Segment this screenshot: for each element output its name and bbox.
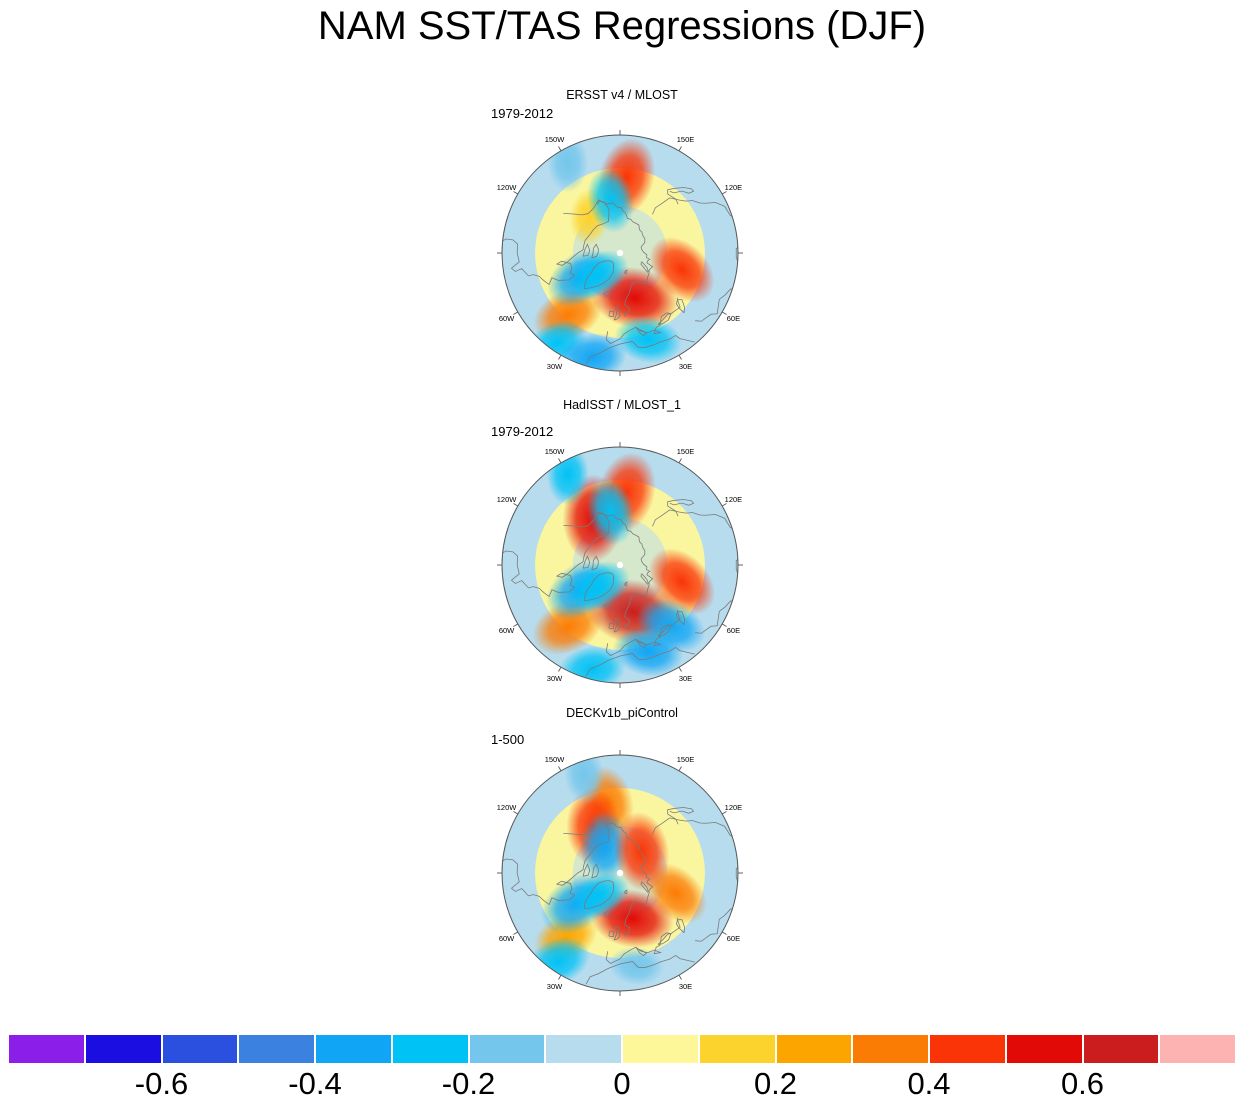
colorbar-swatch-2 bbox=[162, 1034, 239, 1064]
map-svg: 180150W120W90W60W30W030E60E90E120E150E bbox=[497, 750, 743, 996]
colorbar-swatch-12 bbox=[929, 1034, 1006, 1064]
lon-label-60W: 60W bbox=[499, 934, 515, 943]
colorbar-swatch-5 bbox=[392, 1034, 469, 1064]
lon-label-150W: 150W bbox=[545, 447, 566, 456]
colorbar-swatch-0 bbox=[8, 1034, 85, 1064]
lon-label-30E: 30E bbox=[679, 362, 692, 371]
lon-label-60E: 60E bbox=[727, 314, 740, 323]
lon-label-150E: 150E bbox=[677, 755, 695, 764]
panel-period-label: 1-500 bbox=[491, 732, 524, 747]
colorbar-swatch-7 bbox=[545, 1034, 622, 1064]
lon-label-60W: 60W bbox=[499, 626, 515, 635]
lon-label-60E: 60E bbox=[727, 934, 740, 943]
colorbar-swatch-6 bbox=[469, 1034, 546, 1064]
lon-label-150W: 150W bbox=[545, 135, 566, 144]
colorbar-tick-5: 0.4 bbox=[907, 1066, 950, 1102]
map-svg: 180150W120W90W60W30W030E60E90E120E150E bbox=[497, 130, 743, 376]
colorbar-swatch-11 bbox=[852, 1034, 929, 1064]
colorbar-swatch-10 bbox=[776, 1034, 853, 1064]
lon-label-30W: 30W bbox=[547, 982, 563, 991]
lon-tick bbox=[559, 766, 562, 770]
lon-tick bbox=[679, 766, 682, 770]
colorbar-tick-1: -0.4 bbox=[288, 1066, 341, 1102]
lon-label-60E: 60E bbox=[727, 626, 740, 635]
polar-map-deck: 180150W120W90W60W30W030E60E90E120E150E bbox=[497, 750, 743, 996]
polar-map-hadisst: 180150W120W90W60W30W030E60E90E120E150E bbox=[497, 442, 743, 688]
colorbar-swatch-15 bbox=[1159, 1034, 1236, 1064]
colorbar bbox=[8, 1034, 1236, 1064]
lon-label-120W: 120W bbox=[497, 495, 517, 504]
panel-period-label: 1979-2012 bbox=[491, 106, 553, 121]
colorbar-swatch-4 bbox=[315, 1034, 392, 1064]
colorbar-swatch-14 bbox=[1083, 1034, 1160, 1064]
lon-tick bbox=[679, 355, 682, 359]
panel-title: HadISST / MLOST_1 bbox=[0, 398, 1244, 412]
page-title: NAM SST/TAS Regressions (DJF) bbox=[0, 4, 1244, 49]
map-svg: 180150W120W90W60W30W030E60E90E120E150E bbox=[497, 442, 743, 688]
lon-label-30W: 30W bbox=[547, 362, 563, 371]
lon-tick bbox=[559, 355, 562, 359]
colorbar-tick-labels: -0.6-0.4-0.200.20.40.6 bbox=[0, 1066, 1244, 1112]
colorbar-tick-4: 0.2 bbox=[754, 1066, 797, 1102]
colorbar-tick-3: 0 bbox=[613, 1066, 630, 1102]
lon-tick bbox=[679, 975, 682, 979]
lon-tick bbox=[559, 975, 562, 979]
lon-tick bbox=[679, 667, 682, 671]
colorbar-tick-6: 0.6 bbox=[1061, 1066, 1104, 1102]
lon-label-120W: 120W bbox=[497, 803, 517, 812]
lon-label-30E: 30E bbox=[679, 982, 692, 991]
colorbar-swatch-13 bbox=[1006, 1034, 1083, 1064]
lon-label-30E: 30E bbox=[679, 674, 692, 683]
panel-ersst: ERSST v4 / MLOST 1979-2012 180150W120W90… bbox=[0, 88, 1244, 388]
lon-label-120E: 120E bbox=[725, 803, 743, 812]
colorbar-swatch-1 bbox=[85, 1034, 162, 1064]
pole-marker bbox=[617, 870, 623, 876]
lon-label-60W: 60W bbox=[499, 314, 515, 323]
lon-label-120E: 120E bbox=[725, 183, 743, 192]
pole-marker bbox=[617, 250, 623, 256]
lon-label-30W: 30W bbox=[547, 674, 563, 683]
panel-deck: DECKv1b_piControl 1-500 180150W120W90W60… bbox=[0, 706, 1244, 1006]
colorbar-tick-0: -0.6 bbox=[135, 1066, 188, 1102]
panel-hadisst: HadISST / MLOST_1 1979-2012 180150W120W9… bbox=[0, 398, 1244, 698]
lon-tick bbox=[559, 146, 562, 150]
panel-title: DECKv1b_piControl bbox=[0, 706, 1244, 720]
polar-map-ersst: 180150W120W90W60W30W030E60E90E120E150E bbox=[497, 130, 743, 376]
panel-period-label: 1979-2012 bbox=[491, 424, 553, 439]
colorbar-swatch-8 bbox=[622, 1034, 699, 1064]
pole-marker bbox=[617, 562, 623, 568]
lon-label-150E: 150E bbox=[677, 447, 695, 456]
lon-tick bbox=[679, 146, 682, 150]
colorbar-swatch-9 bbox=[699, 1034, 776, 1064]
lon-tick bbox=[559, 667, 562, 671]
lon-label-120W: 120W bbox=[497, 183, 517, 192]
lon-tick bbox=[559, 458, 562, 462]
colorbar-tick-2: -0.2 bbox=[442, 1066, 495, 1102]
lon-label-150W: 150W bbox=[545, 755, 566, 764]
lon-label-150E: 150E bbox=[677, 135, 695, 144]
lon-tick bbox=[679, 458, 682, 462]
colorbar-swatch-3 bbox=[238, 1034, 315, 1064]
panel-title: ERSST v4 / MLOST bbox=[0, 88, 1244, 102]
lon-label-120E: 120E bbox=[725, 495, 743, 504]
